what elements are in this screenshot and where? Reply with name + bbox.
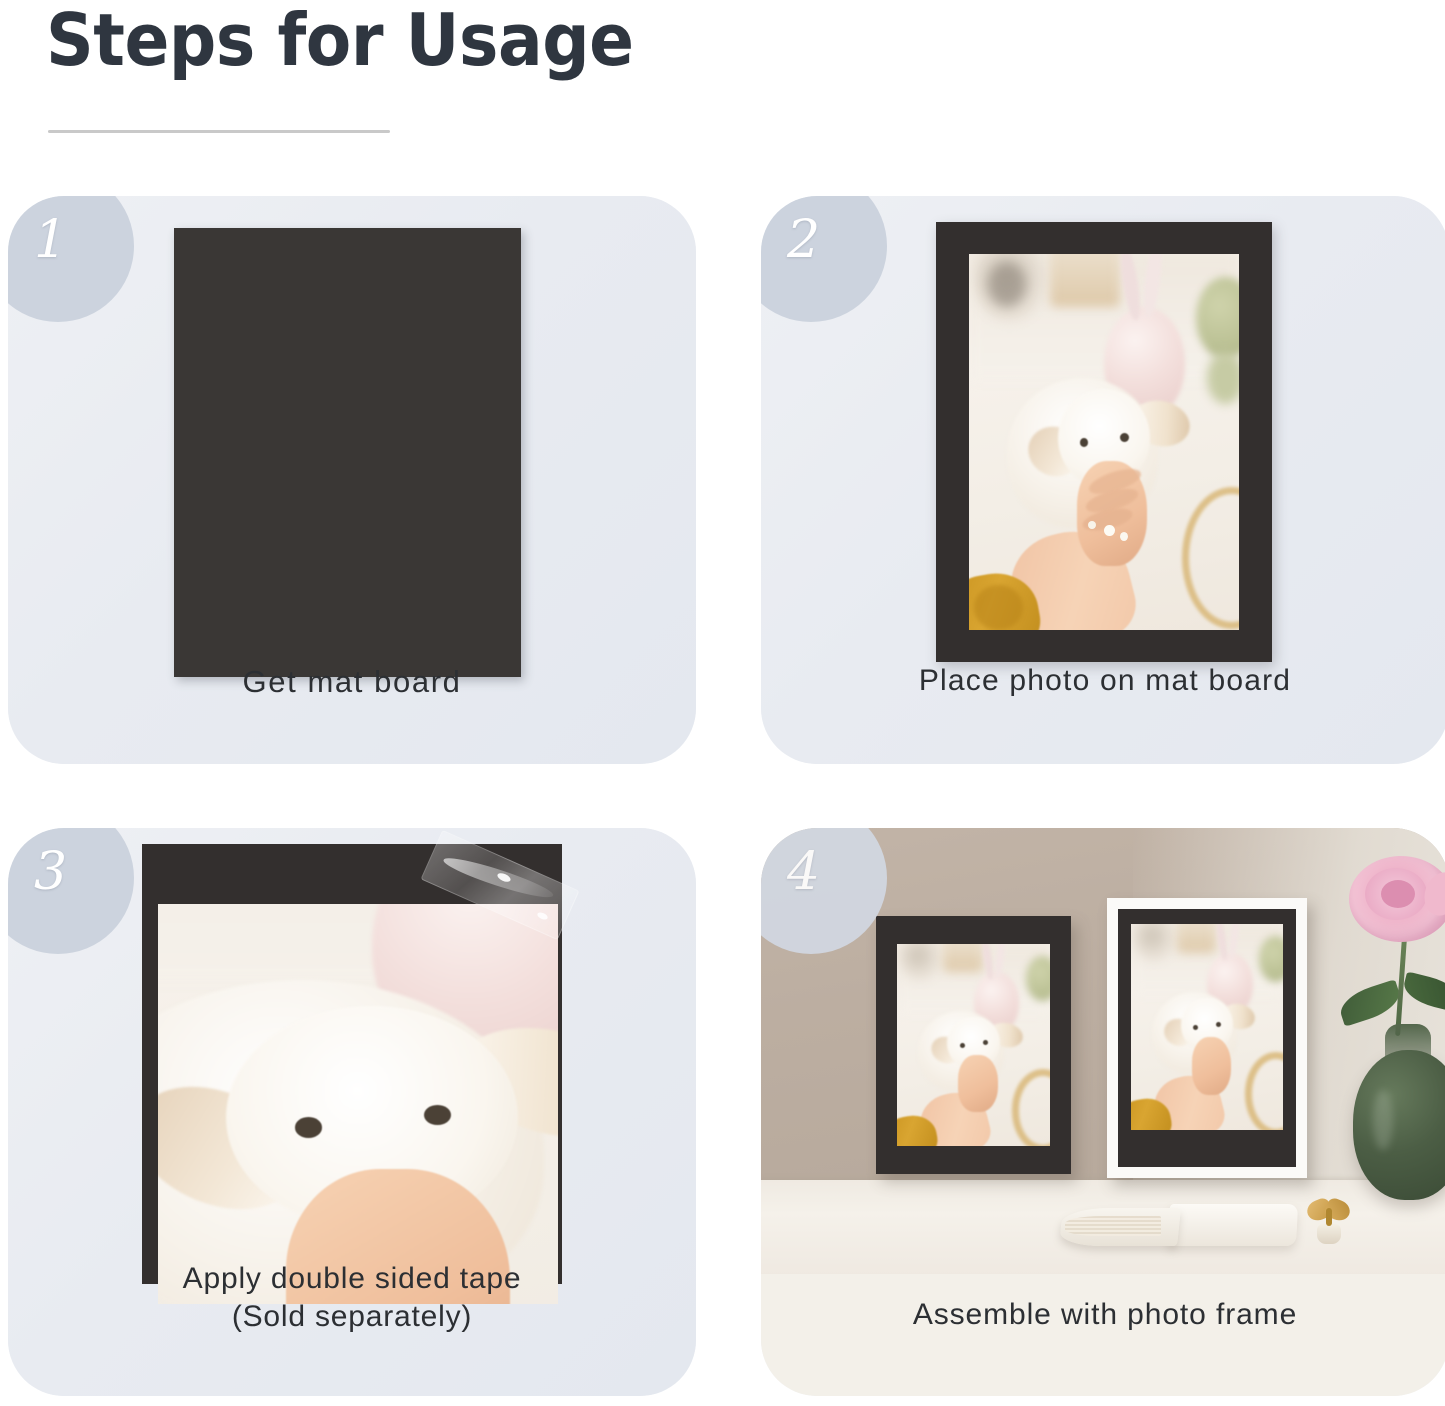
bunny-photo-framed-left	[897, 944, 1050, 1146]
step-caption-4: Assemble with photo frame	[761, 1296, 1445, 1334]
step-caption-2: Place photo on mat board	[761, 662, 1445, 700]
photo-green-ornament-small	[1207, 352, 1239, 405]
butterfly-base	[1317, 1224, 1341, 1244]
photo-child-hand	[958, 1055, 998, 1112]
step-caption-1: Get mat board	[8, 662, 696, 702]
wall-frame-black	[876, 916, 1071, 1174]
photo-bunny-eye-left	[960, 1043, 965, 1048]
photo-background-box	[1177, 924, 1217, 953]
book-page-edges	[1065, 1216, 1161, 1236]
photo-sleeve-shadow	[974, 585, 1023, 630]
step-card-3: 3 Apply double sided tape (Sold separate…	[8, 828, 696, 1396]
steps-grid: 1 Get mat board	[8, 196, 1438, 1396]
book-right-page	[1168, 1204, 1298, 1246]
vase-highlight	[1373, 1090, 1393, 1150]
butterfly-figurine	[1307, 1200, 1351, 1246]
bunny-photo-framed-right	[1131, 924, 1283, 1130]
wall-frame-white	[1107, 898, 1307, 1178]
photo-child-hand	[1192, 1037, 1232, 1095]
title-underline-rule	[48, 130, 390, 133]
step-number-4: 4	[787, 846, 820, 898]
mat-board	[174, 228, 521, 677]
steps-for-usage-infographic: Steps for Usage 1 Get mat board	[0, 0, 1445, 1406]
bunny-photo-closeup	[158, 904, 558, 1304]
photo-closeup-clip	[158, 904, 558, 1304]
photo-background-box	[1050, 254, 1120, 307]
step-card-4: 4 Assemble with photo frame	[761, 828, 1445, 1396]
photo-crumb-1	[1104, 525, 1115, 536]
mat-board-with-photo	[936, 222, 1272, 662]
step-card-2: 2 Place photo on mat board	[761, 196, 1445, 764]
photo-bunny-eye-right	[424, 1105, 452, 1126]
rose-petal-2	[1381, 880, 1415, 908]
header: Steps for Usage	[0, 0, 1445, 170]
step-card-1: 1 Get mat board	[8, 196, 696, 764]
step-caption-3: Apply double sided tape (Sold separately…	[8, 1260, 696, 1337]
butterfly-body	[1326, 1208, 1332, 1226]
page-title: Steps for Usage	[46, 0, 634, 82]
step-number-1: 1	[34, 214, 67, 266]
mat-board-closeup	[142, 844, 562, 1284]
step-number-2: 2	[787, 214, 820, 266]
photo-crumb-3	[1088, 521, 1096, 529]
photo-bunny-eye-left	[295, 1117, 323, 1138]
photo-plate-shadow	[988, 262, 1026, 307]
photo-bunny-eye-right	[1216, 1022, 1221, 1027]
step-number-3: 3	[34, 846, 67, 898]
bunny-photo	[969, 254, 1239, 630]
open-book	[1061, 1198, 1297, 1250]
photo-bunny-eye-right	[1120, 433, 1129, 442]
green-vase	[1353, 1050, 1445, 1200]
photo-background-box	[943, 944, 983, 972]
step-caption-3-line1: Apply double sided tape	[8, 1260, 696, 1298]
photo-bunny-eye-right	[983, 1040, 988, 1045]
step-caption-3-line2: (Sold separately)	[8, 1298, 696, 1336]
